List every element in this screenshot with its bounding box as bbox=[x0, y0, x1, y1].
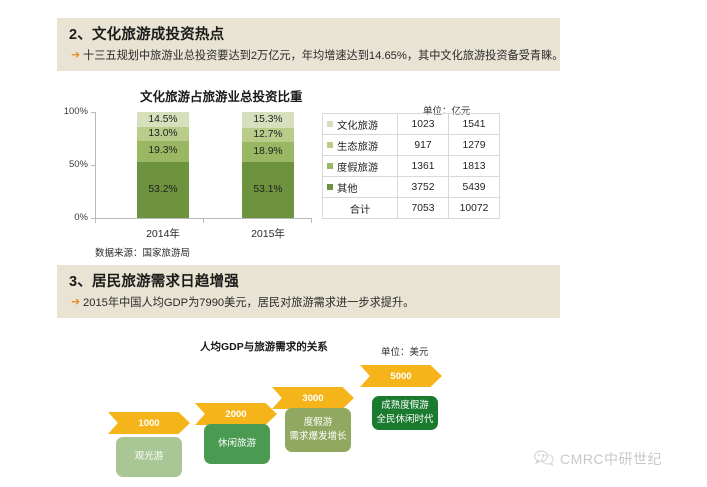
bar-segment-label: 15.3% bbox=[253, 115, 282, 125]
table-row: 度假旅游13611813 bbox=[323, 156, 500, 177]
table-row-label-cell: 生态旅游 bbox=[323, 135, 398, 156]
table-row-label: 其他 bbox=[337, 184, 358, 195]
table-total-row: 合计705310072 bbox=[323, 198, 500, 219]
bar-column: 15.3%12.7%18.9%53.1% bbox=[242, 112, 294, 218]
x-axis-tick bbox=[95, 218, 96, 223]
legend-swatch-icon bbox=[327, 121, 333, 127]
tourism-stage-label-secondary: 需求爆发增长 bbox=[289, 430, 346, 444]
legend-swatch-icon bbox=[327, 163, 333, 169]
bar-segment-label: 13.0% bbox=[148, 129, 177, 139]
tourism-stage-label-primary: 成熟度假游 bbox=[381, 399, 429, 413]
table-row-label-cell: 文化旅游 bbox=[323, 114, 398, 135]
bar-segment-label: 53.2% bbox=[148, 185, 177, 195]
bar-segment: 13.0% bbox=[137, 127, 189, 141]
watermark-text: CMRC中研世纪 bbox=[560, 449, 662, 469]
bar-segment-label: 19.3% bbox=[148, 146, 177, 156]
table-row-label: 度假旅游 bbox=[337, 163, 378, 174]
tourism-stage-box: 度假游需求爆发增长 bbox=[285, 408, 351, 452]
tourism-stage-box: 观光游 bbox=[116, 437, 182, 477]
bar-segment: 19.3% bbox=[137, 141, 189, 161]
diagram-unit-label: 单位：美元 bbox=[381, 344, 429, 358]
table-cell-2015: 5439 bbox=[449, 177, 500, 198]
table-cell-2014: 917 bbox=[398, 135, 449, 156]
table-row-label: 文化旅游 bbox=[337, 121, 378, 132]
table-row-label-cell: 度假旅游 bbox=[323, 156, 398, 177]
table-row: 其他37525439 bbox=[323, 177, 500, 198]
gdp-threshold-arrow: 2000 bbox=[195, 403, 277, 425]
y-axis-tick-label: 100% bbox=[64, 106, 88, 117]
bar-segment: 18.9% bbox=[242, 142, 294, 162]
gdp-threshold-arrow: 1000 bbox=[108, 412, 190, 434]
tourism-stage-box: 成熟度假游全民休闲时代 bbox=[372, 396, 438, 430]
bar-segment: 12.7% bbox=[242, 128, 294, 141]
arrow-bullet-icon: ➜ bbox=[71, 297, 80, 308]
bar-segment: 15.3% bbox=[242, 112, 294, 128]
section-3-subtitle: 2015年中国人均GDP为7990美元，居民对旅游需求进一步求提升。 bbox=[83, 294, 414, 310]
gdp-threshold-value: 1000 bbox=[138, 418, 159, 429]
table-cell-2015: 1813 bbox=[449, 156, 500, 177]
x-axis-tick-label: 2014年 bbox=[128, 226, 198, 241]
gdp-threshold-value: 3000 bbox=[302, 393, 323, 404]
bar-segment-label: 18.9% bbox=[253, 147, 282, 157]
table-total-label: 合计 bbox=[323, 198, 398, 219]
gdp-threshold-arrow: 5000 bbox=[360, 365, 442, 387]
section-3-title: 3、居民旅游需求日趋增强 bbox=[69, 270, 239, 291]
y-axis-tick-label: 0% bbox=[74, 212, 88, 223]
legend-swatch-icon bbox=[327, 142, 333, 148]
investment-data-table: 文化旅游10231541生态旅游9171279度假旅游13611813其他375… bbox=[322, 113, 500, 219]
bar-column: 14.5%13.0%19.3%53.2% bbox=[137, 112, 189, 218]
bar-segment: 14.5% bbox=[137, 112, 189, 127]
table-total-2014: 7053 bbox=[398, 198, 449, 219]
tourism-stage-label-primary: 度假游 bbox=[304, 416, 333, 430]
table-row-label-cell: 其他 bbox=[323, 177, 398, 198]
table-total-2015: 10072 bbox=[449, 198, 500, 219]
table-row-label: 生态旅游 bbox=[337, 142, 378, 153]
diagram-title: 人均GDP与旅游需求的关系 bbox=[200, 339, 328, 354]
x-axis-tick-label: 2015年 bbox=[233, 226, 303, 241]
x-axis-tick bbox=[311, 218, 312, 223]
bar-segment: 53.1% bbox=[242, 162, 294, 218]
gdp-threshold-arrow: 3000 bbox=[272, 387, 354, 409]
chart-title: 文化旅游占旅游业总投资比重 bbox=[140, 86, 303, 105]
bar-segment-label: 12.7% bbox=[253, 130, 282, 140]
legend-swatch-icon bbox=[327, 184, 333, 190]
table-cell-2014: 1023 bbox=[398, 114, 449, 135]
x-axis-tick bbox=[203, 218, 204, 223]
table-row: 文化旅游10231541 bbox=[323, 114, 500, 135]
tourism-stage-box: 休闲旅游 bbox=[204, 424, 270, 464]
chart-source-note: 数据来源：国家旅游局 bbox=[95, 245, 190, 259]
wechat-icon bbox=[534, 450, 554, 469]
section-2-title: 2、文化旅游成投资热点 bbox=[69, 23, 224, 44]
bar-segment-label: 14.5% bbox=[148, 115, 177, 125]
table-cell-2014: 3752 bbox=[398, 177, 449, 198]
section-2-header-band: 2、文化旅游成投资热点 ➜ 十三五规划中旅游业总投资要达到2万亿元，年均增速达到… bbox=[57, 18, 560, 71]
table-row: 生态旅游9171279 bbox=[323, 135, 500, 156]
chart-plot-area: 14.5%13.0%19.3%53.2%15.3%12.7%18.9%53.1% bbox=[95, 112, 310, 218]
tourism-stage-label-secondary: 全民休闲时代 bbox=[376, 413, 433, 427]
table-cell-2014: 1361 bbox=[398, 156, 449, 177]
watermark: CMRC中研世纪 bbox=[534, 449, 662, 469]
y-axis-tick-label: 50% bbox=[69, 159, 88, 170]
section-3-header-band: 3、居民旅游需求日趋增强 ➜ 2015年中国人均GDP为7990美元，居民对旅游… bbox=[57, 265, 560, 318]
table-cell-2015: 1541 bbox=[449, 114, 500, 135]
tourism-stage-label-primary: 观光游 bbox=[135, 450, 164, 464]
arrow-bullet-icon: ➜ bbox=[71, 50, 80, 61]
gdp-threshold-value: 2000 bbox=[225, 409, 246, 420]
bar-segment-label: 53.1% bbox=[253, 185, 282, 195]
section-2-subtitle: 十三五规划中旅游业总投资要达到2万亿元，年均增速达到14.65%，其中文化旅游投… bbox=[83, 47, 563, 63]
tourism-stage-label-primary: 休闲旅游 bbox=[218, 437, 256, 451]
table-cell-2015: 1279 bbox=[449, 135, 500, 156]
gdp-threshold-value: 5000 bbox=[390, 371, 411, 382]
bar-segment: 53.2% bbox=[137, 162, 189, 218]
